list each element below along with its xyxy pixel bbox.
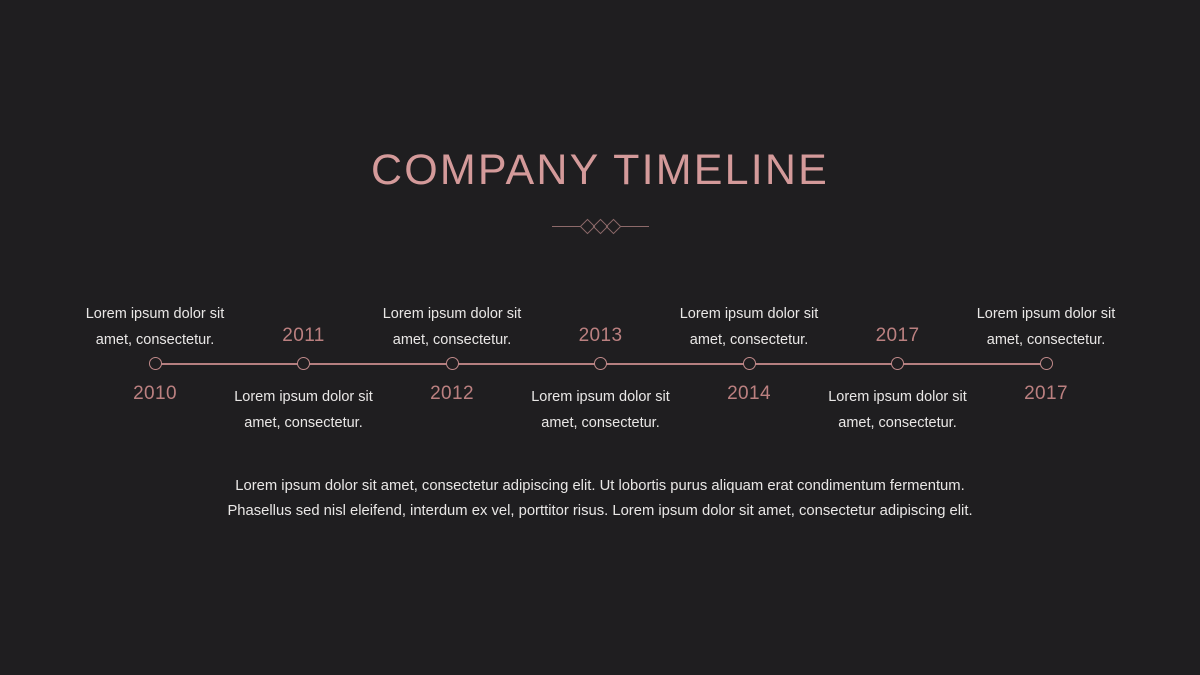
timeline-marker[interactable] [446, 357, 459, 370]
timeline-marker[interactable] [149, 357, 162, 370]
timeline-marker[interactable] [891, 357, 904, 370]
milestone-description-line-1: Lorem ipsum dolor sit [926, 302, 1166, 328]
milestone-description-line-1: Lorem ipsum dolor sit [35, 302, 275, 328]
milestone-description-line-2: amet, consectetur. [184, 411, 424, 437]
timeline: 2010Lorem ipsum dolor sitamet, consectet… [0, 0, 1200, 675]
milestone-description-line-1: Lorem ipsum dolor sit [629, 302, 869, 328]
timeline-marker[interactable] [743, 357, 756, 370]
milestone-description: Lorem ipsum dolor sitamet, consectetur. [926, 302, 1166, 354]
milestone-description-line-2: amet, consectetur. [778, 411, 1018, 437]
timeline-marker[interactable] [594, 357, 607, 370]
milestone-description-line-2: amet, consectetur. [926, 328, 1166, 354]
timeline-marker[interactable] [297, 357, 310, 370]
footer-line-1: Lorem ipsum dolor sit amet, consectetur … [0, 474, 1200, 499]
milestone-description-line-2: amet, consectetur. [481, 411, 721, 437]
milestone-year: 2017 [951, 383, 1141, 405]
footer-paragraph: Lorem ipsum dolor sit amet, consectetur … [0, 474, 1200, 525]
timeline-marker[interactable] [1040, 357, 1053, 370]
footer-line-2: Phasellus sed nisl eleifend, interdum ex… [0, 499, 1200, 524]
milestone-description-line-1: Lorem ipsum dolor sit [332, 302, 572, 328]
